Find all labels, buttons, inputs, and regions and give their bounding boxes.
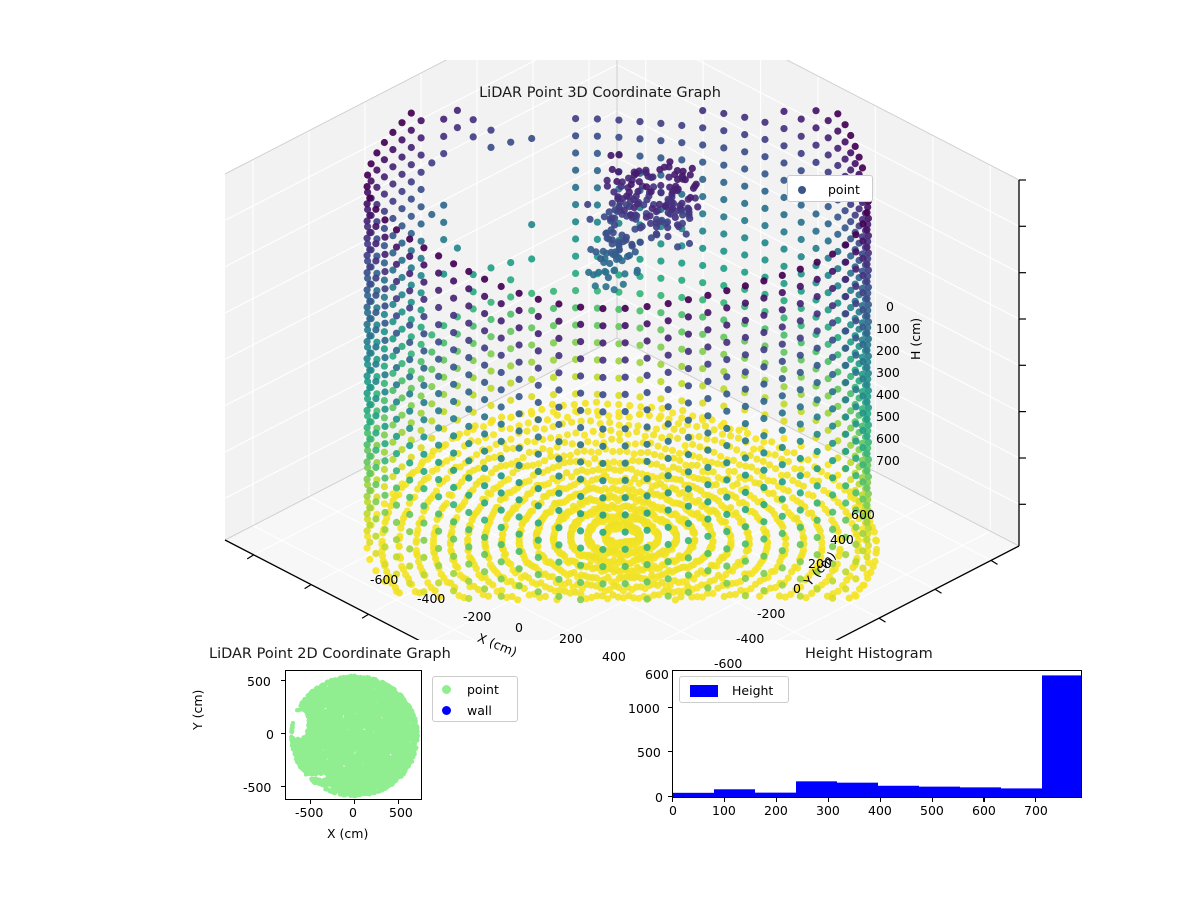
- histogram-ytick-0: 0: [655, 790, 663, 805]
- wall-marker-icon: [442, 706, 451, 715]
- histogram-ytick-2: 1000: [628, 701, 660, 716]
- plot2d-ytick-0: -500: [243, 780, 271, 795]
- legend-label-wall: wall: [467, 703, 492, 718]
- plot2d-xtick-1: 0: [349, 805, 357, 820]
- scatter3d-ztick-6: 600: [876, 431, 900, 446]
- plot2d-canvas: [286, 671, 422, 800]
- plot2d-xtickmark-0: [310, 800, 311, 804]
- plot2d-axes-frame: [285, 670, 422, 800]
- scatter3d-ytick-6: 600: [851, 507, 875, 522]
- scatter3d-xtick-0: -600: [370, 572, 398, 587]
- scatter3d-xtick-2: -200: [463, 609, 491, 624]
- point-marker-icon: [442, 685, 451, 694]
- scatter3d-zaxis-label: H (cm): [908, 318, 923, 360]
- scatter3d-ztick-2: 200: [876, 343, 900, 358]
- scatter3d-ztick-5: 500: [876, 409, 900, 424]
- histogram-xtickmark: [672, 798, 673, 802]
- histogram-ytickmark-1: [668, 751, 672, 752]
- histogram-xtick-2: 200: [764, 803, 788, 818]
- plot2d-legend[interactable]: point wall: [432, 676, 518, 722]
- plot2d-title: LiDAR Point 2D Coordinate Graph: [209, 646, 451, 662]
- histogram-ytickmark-2: [668, 707, 672, 708]
- plot2d-xtickmark-2: [398, 800, 399, 804]
- scatter3d-ztick-7: 700: [876, 453, 900, 468]
- height-patch-icon: [690, 685, 718, 697]
- plot2d-ytickmark-1: [281, 733, 285, 734]
- histogram-xtick-4: 400: [868, 803, 892, 818]
- histogram-title: Height Histogram: [805, 646, 933, 662]
- histogram-xtickmark: [828, 798, 829, 802]
- histogram-xtickmark: [983, 798, 984, 802]
- plot2d-ytick-1: 0: [266, 727, 274, 742]
- scatter3d-legend[interactable]: point: [787, 175, 873, 202]
- plot2d-yaxis-label: Y (cm): [190, 690, 205, 730]
- histogram-xtick-6: 600: [972, 803, 996, 818]
- point-marker-icon: [798, 186, 806, 194]
- scatter3d-ztick-1: 100: [876, 321, 900, 336]
- histogram-xtickmark: [880, 798, 881, 802]
- scatter3d-canvas: [0, 60, 1200, 640]
- histogram-ytick-1: 500: [637, 745, 661, 760]
- plot2d-xaxis-label: X (cm): [327, 826, 368, 841]
- histogram-xtickmark: [776, 798, 777, 802]
- histogram-panel: Height Histogram 1000 500 0 0 100 200 30…: [600, 630, 1200, 900]
- histogram-xtick-7: 700: [1024, 803, 1048, 818]
- legend-item-point[interactable]: point: [788, 176, 872, 203]
- plot2d-xtick-2: 500: [389, 805, 413, 820]
- scatter3d-xtick-4: 200: [559, 631, 583, 646]
- plot2d-xtickmark-1: [354, 800, 355, 804]
- scatter3d-panel: LiDAR Point 3D Coordinate Graph point -6…: [0, 60, 1200, 640]
- plot2d-ytickmark-0: [281, 786, 285, 787]
- scatter3d-ytick-3: 0: [793, 581, 801, 596]
- plot2d-ytick-2: 500: [247, 674, 271, 689]
- histogram-xtick-3: 300: [816, 803, 840, 818]
- legend-item-wall[interactable]: wall: [433, 700, 517, 721]
- legend-label-point: point: [467, 682, 499, 697]
- histogram-xtick-5: 500: [920, 803, 944, 818]
- histogram-xtickmark: [932, 798, 933, 802]
- plot2d-panel: LiDAR Point 2D Coordinate Graph 500 0 -5…: [0, 630, 560, 900]
- scatter3d-title: LiDAR Point 3D Coordinate Graph: [0, 85, 1200, 101]
- scatter3d-xtick-1: -400: [417, 591, 445, 606]
- legend-item-point[interactable]: point: [433, 679, 517, 700]
- scatter3d-ztick-4: 400: [876, 387, 900, 402]
- scatter3d-ztick-3: 300: [876, 365, 900, 380]
- scatter3d-ytick-5: 400: [830, 532, 854, 547]
- histogram-legend[interactable]: Height: [679, 676, 789, 703]
- histogram-ytickmark-0: [668, 796, 672, 797]
- scatter3d-ztick-0: 0: [886, 299, 894, 314]
- scatter3d-ytick-2: -200: [757, 606, 785, 621]
- plot2d-ytickmark-2: [281, 680, 285, 681]
- histogram-xtickmark: [724, 798, 725, 802]
- histogram-xtick-1: 100: [712, 803, 736, 818]
- plot2d-xtick-0: -500: [295, 805, 323, 820]
- legend-label-point: point: [828, 182, 860, 197]
- histogram-xtick-0: 0: [669, 803, 677, 818]
- histogram-xtickmark: [1035, 798, 1036, 802]
- legend-label-height: Height: [732, 683, 773, 698]
- legend-item-height[interactable]: Height: [680, 677, 788, 704]
- plot2d-point-cloud: [289, 674, 420, 799]
